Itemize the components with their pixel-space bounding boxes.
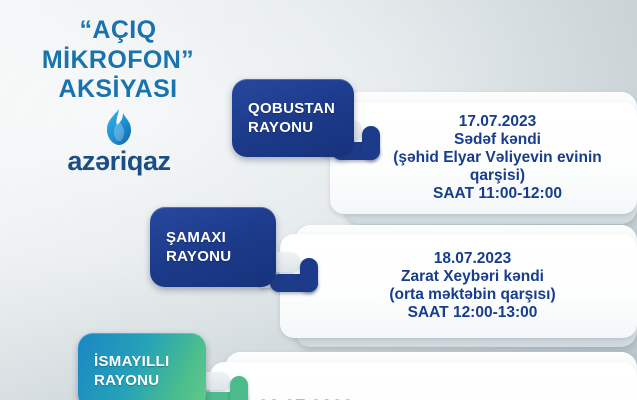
chain-link-3-dark-stub [230,376,248,400]
chain-link-1-dark-stub [362,126,380,160]
event-note-1: (şəhid Elyar Vəliyevin evinin [393,149,601,167]
event-date-1: 17.07.2023 [393,113,601,131]
district-badge-3-line1: İSMAYILLI [78,352,206,372]
poster-canvas: “AÇIQ MİKROFON” AKSİYASI azəriqaz 17.07.… [0,0,637,400]
district-badge-1-line1: QOBUSTAN [232,99,354,119]
event-time-2: SAAT 12:00-13:00 [389,304,555,322]
district-badge-ismayilli[interactable]: İSMAYILLI RAYONU [78,333,206,400]
brand-name: azəriqaz [30,148,208,175]
chain-link-2-dark-stub [300,258,318,292]
event-note-2: (orta məktəbin qarşısı) [389,286,555,304]
event-place-2: Zarat Xeybəri kəndi [389,268,555,286]
district-badge-2-line2: RAYONU [150,247,276,267]
district-badge-1-line2: RAYONU [232,118,354,138]
page-title: “AÇIQ MİKROFON” AKSİYASI [0,16,236,105]
district-badge-3-line2: RAYONU [78,371,206,391]
flame-icon [104,108,134,146]
event-note-1b: qarşisi) [393,167,601,185]
event-time-1: SAAT 11:00-12:00 [393,185,601,203]
district-badge-qobustan[interactable]: QOBUSTAN RAYONU [232,79,354,157]
title-line-2: AKSİYASI [0,75,236,105]
info-card-2-text: 18.07.2023 Zarat Xeybəri kəndi (orta mək… [355,250,561,322]
title-line-1: “AÇIQ MİKROFON” [0,16,236,75]
info-card-3: 20.07.2023 [210,362,637,400]
info-card-1-text: 17.07.2023 Sədəf kəndi (şəhid Elyar Vəli… [359,113,607,203]
district-badge-2-line1: ŞAMAXI [150,228,276,248]
brand-logo: azəriqaz [30,108,208,175]
info-card-2: 18.07.2023 Zarat Xeybəri kəndi (orta mək… [280,234,637,338]
event-date-2: 18.07.2023 [389,250,555,268]
event-place-1: Sədəf kəndi [393,131,601,149]
district-badge-samaxi[interactable]: ŞAMAXI RAYONU [150,207,276,287]
